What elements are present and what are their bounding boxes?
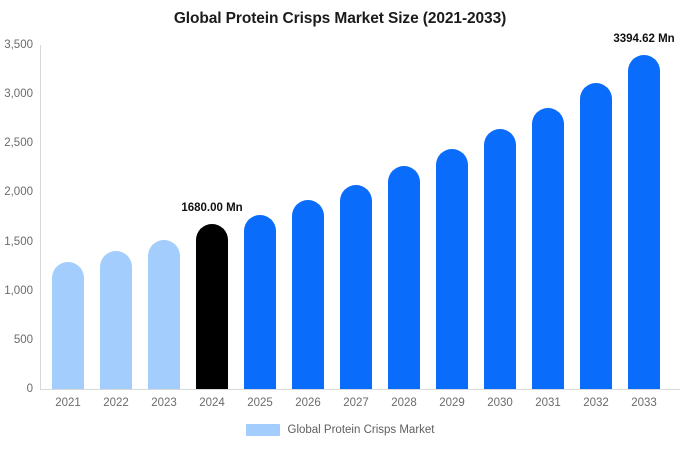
x-axis-tick-2024: 2024	[188, 397, 236, 409]
legend-swatch-icon	[246, 424, 280, 436]
bar-2024[interactable]	[196, 224, 228, 389]
y-axis-line	[40, 45, 41, 389]
legend-item[interactable]: Global Protein Crisps Market	[246, 424, 435, 436]
plot-area: 05001,0001,5002,0002,5003,0003,500 20212…	[40, 45, 680, 389]
x-axis-tick-2025: 2025	[236, 397, 284, 409]
x-axis-tick-2023: 2023	[140, 397, 188, 409]
x-axis-tick-2029: 2029	[428, 397, 476, 409]
bar-value-label-2024: 1680.00 Mn	[181, 202, 242, 214]
bar-2028[interactable]	[388, 166, 420, 389]
bar-2025[interactable]	[244, 215, 276, 389]
x-axis-tick-2030: 2030	[476, 397, 524, 409]
bar-2027[interactable]	[340, 185, 372, 389]
bar-2030[interactable]	[484, 129, 516, 389]
y-axis-tick-1500: 1,500	[4, 236, 33, 248]
x-axis-line	[40, 389, 680, 390]
y-axis-tick-500: 500	[14, 334, 33, 346]
legend-label: Global Protein Crisps Market	[288, 424, 435, 436]
x-axis-tick-2027: 2027	[332, 397, 380, 409]
y-axis-tick-2000: 2,000	[4, 186, 33, 198]
bar-2033[interactable]	[628, 55, 660, 389]
bar-2032[interactable]	[580, 83, 612, 389]
bar-2022[interactable]	[100, 251, 132, 389]
y-axis-tick-3500: 3,500	[4, 39, 33, 51]
x-axis-tick-2032: 2032	[572, 397, 620, 409]
x-axis-tick-2026: 2026	[284, 397, 332, 409]
chart-legend: Global Protein Crisps Market	[0, 424, 680, 436]
x-axis-tick-2031: 2031	[524, 397, 572, 409]
x-axis-tick-2021: 2021	[44, 397, 92, 409]
x-axis-tick-2022: 2022	[92, 397, 140, 409]
bar-2023[interactable]	[148, 240, 180, 389]
chart-title: Global Protein Crisps Market Size (2021-…	[0, 10, 680, 28]
x-axis-tick-2028: 2028	[380, 397, 428, 409]
bar-2029[interactable]	[436, 149, 468, 389]
chart-container: Global Protein Crisps Market Size (2021-…	[0, 0, 680, 450]
x-axis-tick-2033: 2033	[620, 397, 668, 409]
y-axis-tick-2500: 2,500	[4, 137, 33, 149]
y-axis-tick-1000: 1,000	[4, 285, 33, 297]
y-axis-tick-0: 0	[27, 383, 33, 395]
bar-2031[interactable]	[532, 108, 564, 389]
bar-2021[interactable]	[52, 262, 84, 389]
bar-2026[interactable]	[292, 200, 324, 389]
bar-value-label-2033: 3394.62 Mn	[613, 33, 674, 45]
y-axis-tick-3000: 3,000	[4, 88, 33, 100]
